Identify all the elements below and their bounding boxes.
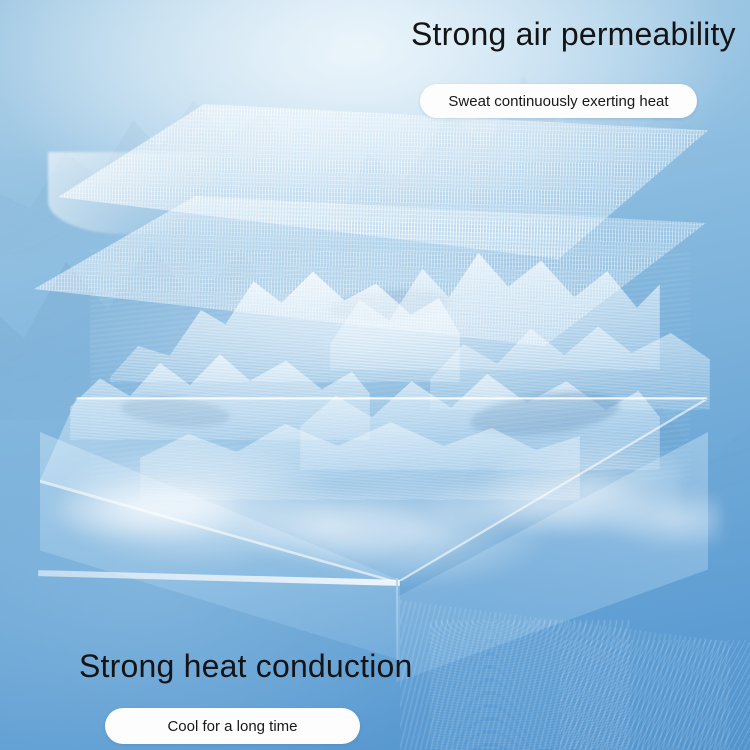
glass-block-inner-mist	[20, 455, 720, 575]
mesh-sheet-lower	[34, 196, 706, 346]
mesh-sheet-upper-curled-corner	[48, 152, 238, 234]
mountain-backdrop-left	[0, 60, 400, 260]
product-infographic-canvas: Strong air permeability Sweat continuous…	[0, 0, 750, 750]
glass-block-top-edge	[40, 397, 708, 581]
badge-cool-long-time-label: Cool for a long time	[167, 718, 297, 735]
fabric-ridge-3	[70, 330, 370, 440]
glass-block-left-face	[40, 432, 400, 660]
fabric-translucent-veil	[90, 250, 690, 480]
fabric-ridge-6	[430, 300, 710, 410]
fabric-shadow-pocket-upper	[329, 286, 451, 324]
mountain-backdrop-mid-left	[0, 180, 360, 420]
mountain-backdrop-lower-right	[430, 330, 750, 590]
surface-ripples-far-right	[560, 640, 750, 750]
glass-block-front-bottom-edge	[38, 570, 400, 586]
glass-block-top-face	[40, 398, 708, 581]
fabric-ridge-4	[300, 350, 660, 470]
fabric-ridge-1	[110, 262, 460, 382]
headline-air-permeability: Strong air permeability	[411, 16, 736, 53]
glass-block-sheen	[60, 420, 680, 620]
fabric-ridge-2	[330, 240, 660, 370]
headline-heat-conduction: Strong heat conduction	[79, 648, 413, 685]
mesh-sheet-upper-edge	[58, 104, 708, 259]
glass-block-right-face	[397, 432, 708, 682]
mesh-sheet-upper	[58, 104, 708, 259]
fabric-shadow-pocket-left	[119, 393, 231, 430]
badge-sweat-exerting-heat: Sweat continuously exerting heat	[420, 84, 697, 118]
mesh-sheet-lower-edge	[34, 196, 706, 346]
mesh-sheet-lower-weave	[34, 196, 706, 346]
badge-sweat-exerting-heat-label: Sweat continuously exerting heat	[448, 93, 668, 110]
surface-ripples-right	[400, 600, 730, 750]
mountain-backdrop-right	[330, 20, 750, 250]
fabric-shadow-pocket-right	[468, 385, 622, 443]
badge-cool-long-time: Cool for a long time	[105, 708, 360, 744]
surface-ripples-center	[430, 620, 630, 750]
mesh-sheet-upper-weave	[58, 102, 708, 262]
fabric-ridge-5	[140, 400, 580, 500]
